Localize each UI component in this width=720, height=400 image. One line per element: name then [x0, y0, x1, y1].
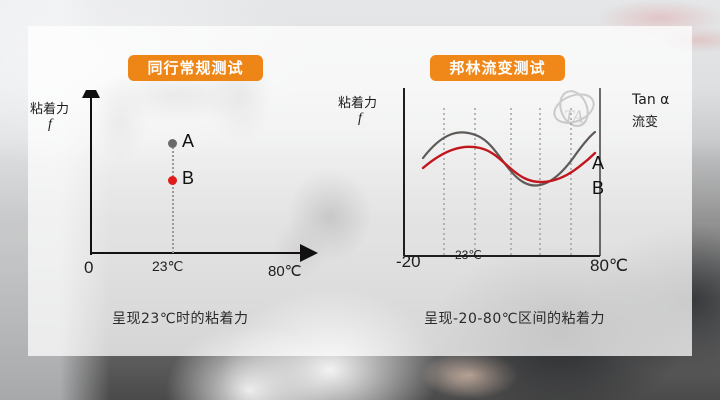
right-y2-axis-sublabel: 流变 [632, 111, 658, 130]
left-chart-guide-line [172, 140, 174, 253]
left-x-tick-max: 80℃ [268, 262, 302, 280]
right-x-tick-max: 80℃ [590, 256, 628, 276]
curve-a-label: A [592, 153, 604, 174]
right-chart-title-badge: 邦林流变测试 [430, 55, 565, 81]
curve-a [423, 132, 595, 186]
left-chart-axes [70, 90, 320, 270]
right-chart-plot [398, 88, 620, 266]
right-y-axis-label: 粘着力 [338, 92, 377, 111]
left-chart-caption: 呈现23℃时的粘着力 [112, 308, 249, 328]
left-x-tick-origin: 0 [84, 258, 93, 278]
right-x-tick-min: -20 [396, 252, 421, 272]
right-x-tick-mid: 23℃ [455, 248, 482, 262]
left-chart-title-badge: 同行常规测试 [128, 55, 263, 81]
curve-b-label: B [592, 178, 604, 199]
left-x-tick-mid: 23℃ [152, 258, 183, 275]
data-point-b-label: B [182, 168, 194, 189]
right-chart-caption: 呈现-20-80℃区间的粘着力 [424, 308, 605, 328]
data-point-a-label: A [182, 131, 194, 152]
right-y2-axis-label: Tan α [632, 92, 669, 108]
screenshot-root: 同行常规测试 粘着力 f A B 0 23℃ 80℃ 呈现23℃时的粘着力 邦林… [0, 0, 720, 400]
right-y-axis-symbol: f [358, 111, 362, 127]
data-point-b [168, 176, 177, 185]
data-point-a [168, 139, 177, 148]
left-y-axis-symbol: f [48, 117, 52, 133]
left-y-axis-label: 粘着力 [30, 98, 69, 117]
